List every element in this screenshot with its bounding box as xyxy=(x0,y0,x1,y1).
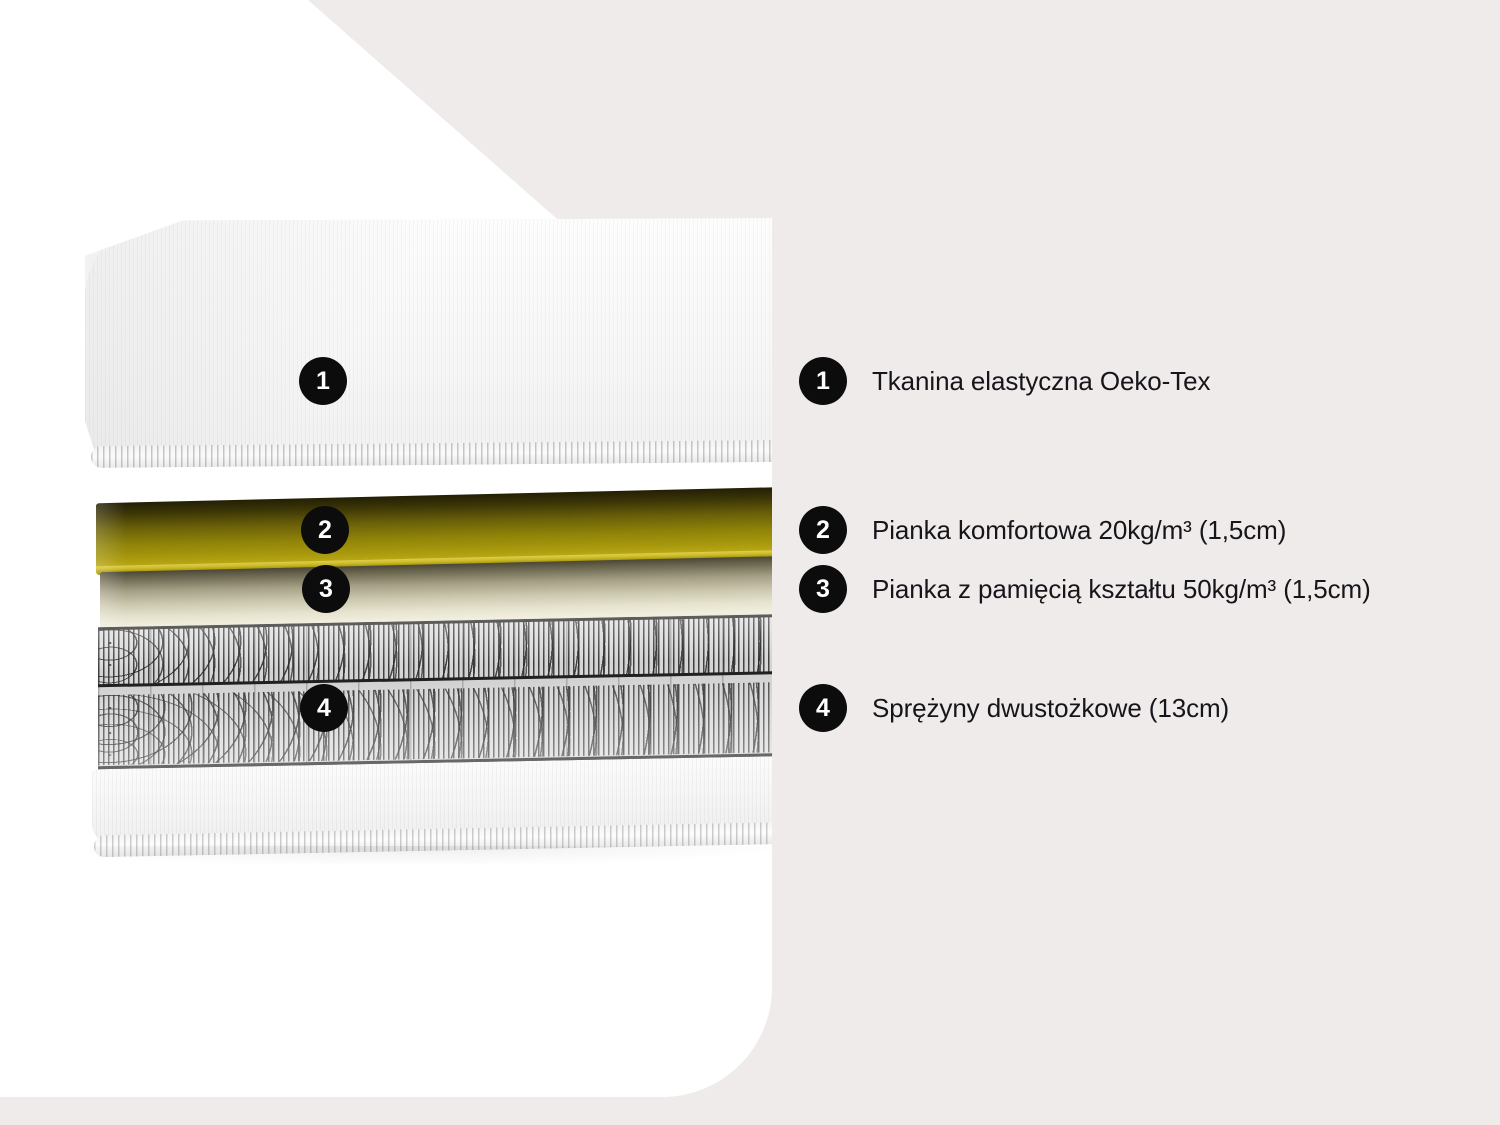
legend-label-4: Sprężyny dwustożkowe (13cm) xyxy=(872,693,1229,724)
layer-legend: 1 Tkanina elastyczna Oeko-Tex 2 Pianka k… xyxy=(799,0,1459,1125)
fabric-top-shading xyxy=(85,218,772,454)
memory-foam-left-bevel xyxy=(100,572,126,635)
fabric-top-stitched-welt xyxy=(91,440,772,468)
legend-item-1[interactable]: 1 Tkanina elastyczna Oeko-Tex xyxy=(799,357,1210,405)
layer-1-fabric-top xyxy=(85,218,772,480)
mattress-drop-shadow xyxy=(90,846,772,866)
legend-badge-3: 3 xyxy=(799,565,847,613)
legend-label-1: Tkanina elastyczna Oeko-Tex xyxy=(872,366,1210,397)
image-badge-2[interactable]: 2 xyxy=(301,506,349,554)
spring-core-gloss xyxy=(98,614,772,775)
image-badge-4[interactable]: 4 xyxy=(300,684,348,732)
legend-item-4[interactable]: 4 Sprężyny dwustożkowe (13cm) xyxy=(799,684,1229,732)
legend-label-3: Pianka z pamięcią kształtu 50kg/m³ (1,5c… xyxy=(872,574,1371,605)
legend-item-3[interactable]: 3 Pianka z pamięcią kształtu 50kg/m³ (1,… xyxy=(799,565,1371,613)
layer-4-spring-core xyxy=(98,614,772,775)
legend-badge-2: 2 xyxy=(799,506,847,554)
image-badge-1[interactable]: 1 xyxy=(299,357,347,405)
legend-badge-4: 4 xyxy=(799,684,847,732)
legend-item-2[interactable]: 2 Pianka komfortowa 20kg/m³ (1,5cm) xyxy=(799,506,1286,554)
image-badge-3[interactable]: 3 xyxy=(302,565,350,613)
legend-badge-1: 1 xyxy=(799,357,847,405)
comfort-foam-left-bevel xyxy=(96,503,126,576)
mattress-layers-infographic: 1 2 3 4 1 Tkanina elastyczna Oeko-Tex 2 … xyxy=(0,0,1500,1125)
mattress-illustration: 1 2 3 4 xyxy=(0,0,772,1125)
legend-label-2: Pianka komfortowa 20kg/m³ (1,5cm) xyxy=(872,515,1286,546)
